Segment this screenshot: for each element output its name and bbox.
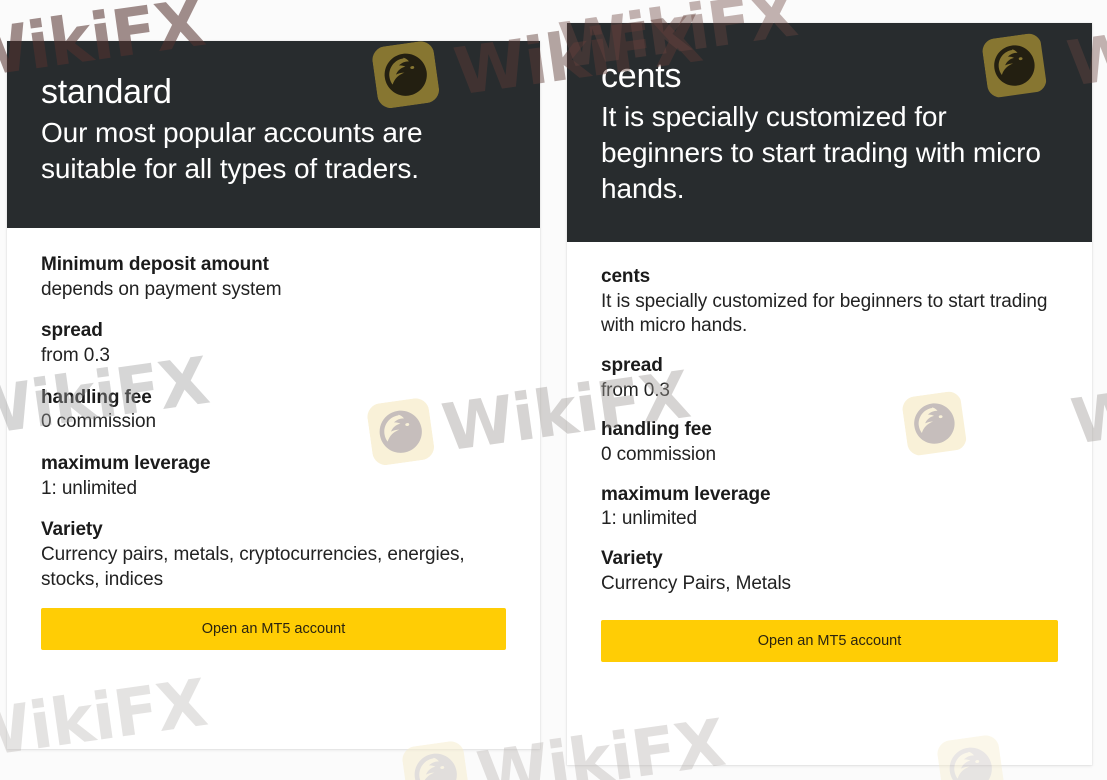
card-header-standard: standard Our most popular accounts are s…: [7, 41, 540, 228]
card-header-cents: cents It is specially customized for beg…: [567, 23, 1092, 242]
spec-label: cents: [601, 264, 1058, 290]
spec-label: handling fee: [41, 385, 506, 411]
spec-value: 1: unlimited: [41, 477, 506, 502]
spec-value: It is specially customized for beginners…: [601, 290, 1058, 339]
card-title: cents: [601, 57, 1058, 95]
card-subtitle: Our most popular accounts are suitable f…: [41, 115, 506, 187]
spec-value: 0 commission: [601, 443, 1058, 468]
spec-label: maximum leverage: [41, 451, 506, 477]
open-mt5-account-button[interactable]: Open an MT5 account: [41, 608, 506, 650]
spec-row: Variety Currency pairs, metals, cryptocu…: [41, 517, 506, 592]
spec-value: 1: unlimited: [601, 507, 1058, 532]
spec-value: 0 commission: [41, 410, 506, 435]
card-title: standard: [41, 73, 506, 111]
spec-value: Currency Pairs, Metals: [601, 572, 1058, 597]
spec-row: maximum leverage 1: unlimited: [601, 482, 1058, 532]
spec-label: spread: [41, 318, 506, 344]
account-card-standard: standard Our most popular accounts are s…: [7, 41, 540, 749]
spec-row: maximum leverage 1: unlimited: [41, 451, 506, 501]
open-mt5-account-button[interactable]: Open an MT5 account: [601, 620, 1058, 662]
spec-value: from 0.3: [41, 344, 506, 369]
spec-row: cents It is specially customized for beg…: [601, 264, 1058, 339]
spec-row: Minimum deposit amount depends on paymen…: [41, 252, 506, 302]
spec-row: Variety Currency Pairs, Metals: [601, 546, 1058, 596]
spec-row: handling fee 0 commission: [601, 417, 1058, 467]
spec-label: Variety: [601, 546, 1058, 572]
spec-label: maximum leverage: [601, 482, 1058, 508]
spec-value: from 0.3: [601, 379, 1058, 404]
spec-row: spread from 0.3: [601, 353, 1058, 403]
spec-label: spread: [601, 353, 1058, 379]
card-subtitle: It is specially customized for beginners…: [601, 99, 1058, 206]
spec-value: Currency pairs, metals, cryptocurrencies…: [41, 543, 506, 592]
card-body-cents: cents It is specially customized for beg…: [567, 242, 1092, 688]
spec-label: Variety: [41, 517, 506, 543]
spec-label: Minimum deposit amount: [41, 252, 506, 278]
account-card-cents: cents It is specially customized for beg…: [567, 23, 1092, 765]
spec-row: handling fee 0 commission: [41, 385, 506, 435]
spec-value: depends on payment system: [41, 278, 506, 303]
spec-label: handling fee: [601, 417, 1058, 443]
spec-row: spread from 0.3: [41, 318, 506, 368]
card-body-standard: Minimum deposit amount depends on paymen…: [7, 228, 540, 676]
